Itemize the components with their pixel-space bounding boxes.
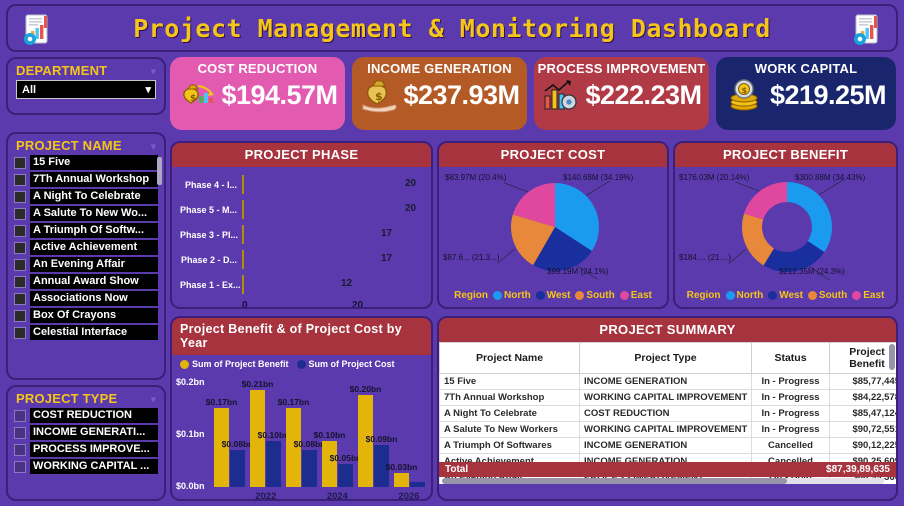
table-row[interactable]: 15 FiveINCOME GENERATIONIn - Progress$85… xyxy=(440,374,897,390)
slicer-item-project-type[interactable]: COST REDUCTION xyxy=(14,408,158,423)
bar-track: 17 xyxy=(242,226,423,243)
slicer-item-label: A Salute To New Wo... xyxy=(30,206,158,221)
donut-label-north: $300.88M (34.43%) xyxy=(795,173,865,182)
legend-benefit-cost: Sum of Project Benefit Sum of Project Co… xyxy=(172,355,431,369)
slicer-title-project-name: PROJECT NAME xyxy=(8,134,164,155)
checkbox-icon[interactable] xyxy=(14,191,26,203)
cell-status: In - Progress xyxy=(752,374,830,390)
bar-value-label: $0.05bn xyxy=(330,453,362,463)
dashboard-page: Project Management & Monitoring Dashboar… xyxy=(0,0,904,506)
cell-project-benefit: $85,77,445 xyxy=(830,374,897,390)
cell-status: In - Progress xyxy=(752,406,830,422)
kpi-card-income-generation[interactable]: INCOME GENERATION $ $237.93M xyxy=(352,57,527,130)
bar-cost[interactable]: $0.10bn xyxy=(266,441,281,487)
y-tick-0: $0.0bn xyxy=(176,481,205,491)
cell-status: Cancelled xyxy=(752,438,830,454)
table-vertical-scrollbar[interactable] xyxy=(889,344,895,370)
project-phase-bars: Phase 4 - I...20Phase 5 - M...20Phase 3 … xyxy=(172,167,431,295)
bar-value-label: $0.17bn xyxy=(206,397,238,407)
chart-title-project-benefit: PROJECT BENEFIT xyxy=(675,143,896,167)
checkbox-icon[interactable] xyxy=(14,310,26,322)
cell-project-name: 15 Five xyxy=(440,374,580,390)
x-tick-1: 20 xyxy=(352,300,363,309)
table-row[interactable]: A Salute To New WorkersWORKING CAPITAL I… xyxy=(440,422,897,438)
bar-value-label: $0.21bn xyxy=(242,379,274,389)
money-bag-declining-chart-icon: $ xyxy=(177,77,217,113)
table-total-row: Total $87,39,89,635 xyxy=(439,462,896,477)
chart-project-cost: PROJECT COST $140.68M (34.19%) $99.19M (… xyxy=(437,141,669,309)
checkbox-icon[interactable] xyxy=(14,276,26,288)
svg-text:$: $ xyxy=(375,90,383,103)
legend-label: North xyxy=(504,290,531,301)
slicer-item-project-name[interactable]: An Evening Affair xyxy=(14,257,158,272)
legend-item-east[interactable]: East xyxy=(620,290,652,301)
bar-value-label: $0.08bn xyxy=(294,439,326,449)
table-row[interactable]: A Night To CelebrateCOST REDUCTIONIn - P… xyxy=(440,406,897,422)
bar-value-label: 20 xyxy=(405,178,416,189)
legend-project-cost: RegionNorthWestSouthEast xyxy=(439,289,667,301)
kpi-card-work-capital[interactable]: WORK CAPITAL $ $219.25M xyxy=(716,57,896,130)
slicer-item-project-name[interactable]: 15 Five xyxy=(14,155,158,170)
cell-project-benefit: $85,47,124 xyxy=(830,406,897,422)
cell-project-benefit: $90,72,551 xyxy=(830,422,897,438)
kpi-label: COST REDUCTION xyxy=(198,61,318,76)
legend-label: North xyxy=(737,290,764,301)
bar-category-label: Phase 1 - Ex... xyxy=(180,280,242,290)
project-name-scrollbar[interactable] xyxy=(157,157,162,185)
x-tick: 2022 xyxy=(250,491,282,502)
table-horizontal-scrollbar[interactable] xyxy=(442,478,884,484)
chart-title-benefit-cost-by-year: Project Benefit & of Project Cost by Yea… xyxy=(172,318,431,355)
checkbox-icon[interactable] xyxy=(14,259,26,271)
bar-category-label: Phase 4 - I... xyxy=(180,180,242,190)
cell-project-name: A Salute To New Workers xyxy=(440,422,580,438)
bar-cost[interactable]: $0.08bn xyxy=(230,450,245,487)
leader-line xyxy=(729,250,746,264)
slicer-item-label: WORKING CAPITAL ... xyxy=(30,459,158,474)
kpi-value: $194.57M xyxy=(221,80,337,111)
cell-project-name: A Triumph Of Softwares xyxy=(440,438,580,454)
bar-fill[interactable] xyxy=(242,200,244,219)
checkbox-icon[interactable] xyxy=(14,293,26,305)
column-header-status[interactable]: Status xyxy=(752,343,830,374)
bar-value-label: $0.03bn xyxy=(386,462,418,472)
slicer-item-label: A Night To Celebrate xyxy=(30,189,158,204)
x-tick: 2026 xyxy=(393,491,425,502)
bar-fill[interactable] xyxy=(242,275,244,294)
slice-north[interactable] xyxy=(787,182,832,252)
bar-value-label: $0.09bn xyxy=(366,434,398,444)
y-tick-1: $0.1bn xyxy=(176,429,205,439)
legend-label: East xyxy=(631,290,652,301)
slicer-item-label: An Evening Affair xyxy=(30,257,158,272)
cell-project-type: WORKING CAPITAL IMPROVEMENT xyxy=(580,422,752,438)
bar-fill[interactable] xyxy=(242,175,244,194)
project-name-list[interactable]: 15 Five7Th Annual WorkshopA Night To Cel… xyxy=(8,155,164,340)
slicer-item-project-name[interactable]: A Night To Celebrate xyxy=(14,189,158,204)
bar-value-label: 17 xyxy=(381,253,392,264)
slicer-item-project-name[interactable]: A Salute To New Wo... xyxy=(14,206,158,221)
slicer-project-name[interactable]: PROJECT NAME ▾ 15 Five7Th Annual Worksho… xyxy=(6,132,166,380)
bar-category-label: Phase 5 - M... xyxy=(180,205,242,215)
bar-category-label: Phase 2 - D... xyxy=(180,255,242,265)
bar-value-label: $0.20bn xyxy=(350,384,382,394)
bar-fill[interactable] xyxy=(242,250,244,269)
legend-label-benefit: Sum of Project Benefit xyxy=(192,359,289,369)
donut-label-east: $176.03M (20.14%) xyxy=(679,173,749,182)
benefit-cost-plot: $0.0bn $0.1bn $0.2bn $0.17bn$0.08bn$0.21… xyxy=(176,371,427,501)
report-chart-gear-icon xyxy=(20,13,54,47)
kpi-label: WORK CAPITAL xyxy=(755,61,858,76)
pie-label-east: $83.97M (20.4%) xyxy=(445,173,506,182)
slicer-item-project-name[interactable]: 7Th Annual Workshop xyxy=(14,172,158,187)
bar-group: $0.10bn$0.05bn xyxy=(322,375,353,487)
bar-track: 12 xyxy=(242,276,423,293)
chevron-down-icon[interactable]: ▾ xyxy=(150,65,156,78)
bar-cost[interactable]: $0.08bn xyxy=(302,450,317,487)
project-phase-x-axis: 0 20 xyxy=(172,299,431,309)
column-header-project-type[interactable]: Project Type xyxy=(580,343,752,374)
slicer-project-type[interactable]: PROJECT TYPE ▾ COST REDUCTIONINCOME GENE… xyxy=(6,385,166,501)
chart-title-project-phase: PROJECT PHASE xyxy=(172,143,431,167)
x-tick: 2024 xyxy=(321,491,353,502)
slicer-item-label: 15 Five xyxy=(30,155,158,170)
cell-project-name: 7Th Annual Workshop xyxy=(440,390,580,406)
kpi-label: PROCESS IMPROVEMENT xyxy=(538,61,706,76)
checkbox-icon[interactable] xyxy=(14,410,26,422)
table-project-summary: PROJECT SUMMARY Project Name Project Typ… xyxy=(437,316,898,501)
bar-fill[interactable] xyxy=(242,225,244,244)
chevron-down-icon[interactable]: ▾ xyxy=(150,140,156,153)
kpi-value: $219.25M xyxy=(770,80,886,111)
benefit-cost-x-axis: 202220242026 xyxy=(214,489,425,501)
page-title: Project Management & Monitoring Dashboar… xyxy=(133,14,771,43)
bar-row[interactable]: Phase 1 - Ex...12 xyxy=(180,274,423,295)
legend-title: Region xyxy=(687,290,721,301)
bar-benefit[interactable]: $0.10bn xyxy=(322,441,337,487)
leader-line xyxy=(587,181,610,196)
bar-track: 20 xyxy=(242,201,423,218)
bar-value-label: $0.10bn xyxy=(258,430,290,440)
slicer-item-label: A Triumph Of Softw... xyxy=(30,223,158,238)
x-tick-0: 0 xyxy=(242,300,248,309)
slicer-item-project-type[interactable]: PROCESS IMPROVE... xyxy=(14,442,158,457)
slicer-item-label: Box Of Crayons xyxy=(30,308,158,323)
bar-group: $0.03bn xyxy=(394,375,425,487)
table-row[interactable]: A Triumph Of SoftwaresINCOME GENERATIONC… xyxy=(440,438,897,454)
slicer-item-label: Celestial Interface xyxy=(30,325,158,340)
slicer-item-project-type[interactable]: INCOME GENERATI... xyxy=(14,425,158,440)
chart-benefit-cost-by-year: Project Benefit & of Project Cost by Yea… xyxy=(170,316,433,501)
bar-value-label: $0.08bn xyxy=(222,439,254,449)
coin-stack-gear-icon: $ xyxy=(726,77,766,113)
kpi-card-cost-reduction[interactable]: COST REDUCTION $ $194.57M xyxy=(170,57,345,130)
chart-project-phase: PROJECT PHASE Phase 4 - I...20Phase 5 - … xyxy=(170,141,433,309)
slicer-department[interactable]: DEPARTMENT ▾ All ▾ xyxy=(6,57,166,115)
slicer-title-project-type: PROJECT TYPE xyxy=(8,387,164,408)
leader-line xyxy=(504,183,527,192)
chevron-down-icon[interactable]: ▾ xyxy=(150,393,156,406)
cell-project-benefit: $90,12,225 xyxy=(830,438,897,454)
legend-item-cost: Sum of Project Cost xyxy=(297,359,395,369)
checkbox-icon[interactable] xyxy=(14,157,26,169)
svg-text:$: $ xyxy=(190,94,196,104)
bar-track: 17 xyxy=(242,251,423,268)
cell-project-type: WORKING CAPITAL IMPROVEMENT xyxy=(580,390,752,406)
project-benefit-plot: $300.88M (34.43%) $212.35M (24.3%) $184.… xyxy=(675,167,896,289)
legend-item-south[interactable]: South xyxy=(575,290,614,301)
legend-label: West xyxy=(779,290,803,301)
slicer-item-project-name[interactable]: A Triumph Of Softw... xyxy=(14,223,158,238)
chart-title-project-cost: PROJECT COST xyxy=(439,143,667,167)
slicer-item-project-name[interactable]: Annual Award Show xyxy=(14,274,158,289)
project-cost-plot: $140.68M (34.19%) $99.19M (24.1%) $87.6.… xyxy=(439,167,667,289)
cell-status: In - Progress xyxy=(752,422,830,438)
legend-item-south[interactable]: South xyxy=(808,290,847,301)
checkbox-icon[interactable] xyxy=(14,174,26,186)
legend-label-cost: Sum of Project Cost xyxy=(309,359,395,369)
column-header-project-benefit[interactable]: Project Benefit xyxy=(830,343,897,374)
legend-item-north[interactable]: North xyxy=(493,290,531,301)
legend-label: South xyxy=(586,290,614,301)
table-header-row: Project Name Project Type Status Project… xyxy=(440,343,897,374)
pie-label-south: $87.6... (21.3...) xyxy=(443,253,499,262)
legend-title: Region xyxy=(454,290,488,301)
total-value: $87,39,89,635 xyxy=(826,464,890,475)
kpi-value: $237.93M xyxy=(403,80,519,111)
slicer-item-project-name[interactable]: Celestial Interface xyxy=(14,325,158,340)
kpi-value: $222.23M xyxy=(585,80,701,111)
cell-project-type: COST REDUCTION xyxy=(580,406,752,422)
slicer-item-label: Active Achievement xyxy=(30,240,158,255)
checkbox-icon[interactable] xyxy=(14,208,26,220)
slicer-item-label: Annual Award Show xyxy=(30,274,158,289)
bar-group: $0.21bn$0.10bn xyxy=(250,375,281,487)
department-selected-value: All xyxy=(22,84,36,96)
checkbox-icon[interactable] xyxy=(14,242,26,254)
legend-item-north[interactable]: North xyxy=(726,290,764,301)
bar-group: $0.17bn$0.08bn xyxy=(214,375,245,487)
table-row[interactable]: 7Th Annual WorkshopWORKING CAPITAL IMPRO… xyxy=(440,390,897,406)
bar-row[interactable]: Phase 2 - D...17 xyxy=(180,249,423,270)
checkbox-icon[interactable] xyxy=(14,327,26,339)
slicer-item-label: COST REDUCTION xyxy=(30,408,158,423)
slicer-item-label: INCOME GENERATI... xyxy=(30,425,158,440)
checkbox-icon[interactable] xyxy=(14,461,26,473)
bar-chart-gear-icon xyxy=(541,77,581,113)
slicer-item-project-name[interactable]: Active Achievement xyxy=(14,240,158,255)
table-title-project-summary: PROJECT SUMMARY xyxy=(439,318,896,342)
kpi-label: INCOME GENERATION xyxy=(367,61,512,76)
legend-project-benefit: RegionNorthWestSouthEast xyxy=(675,289,896,301)
total-label: Total xyxy=(445,464,468,475)
legend-item-east[interactable]: East xyxy=(852,290,884,301)
kpi-card-process-improvement[interactable]: PROCESS IMPROVEMENT $222.23M xyxy=(534,57,709,130)
legend-item-west[interactable]: West xyxy=(768,290,803,301)
chart-project-benefit: PROJECT BENEFIT $300.88M (34.43%) $212.3… xyxy=(673,141,898,309)
leader-line xyxy=(735,182,759,191)
checkbox-icon[interactable] xyxy=(14,444,26,456)
leader-line xyxy=(498,249,515,263)
bar-row[interactable]: Phase 5 - M...20 xyxy=(180,199,423,220)
cell-status: In - Progress xyxy=(752,390,830,406)
pie-label-north: $140.68M (34.19%) xyxy=(563,173,633,182)
legend-item-benefit: Sum of Project Benefit xyxy=(180,359,289,369)
cell-project-benefit: $84,22,578 xyxy=(830,390,897,406)
bar-row[interactable]: Phase 4 - I...20 xyxy=(180,174,423,195)
report-chart-gear-icon xyxy=(850,13,884,47)
slicer-title-department: DEPARTMENT xyxy=(8,59,164,80)
bar-group: $0.17bn$0.08bn xyxy=(286,375,317,487)
cell-project-type: INCOME GENERATION xyxy=(580,438,752,454)
svg-text:$: $ xyxy=(741,86,747,95)
cell-project-name: A Night To Celebrate xyxy=(440,406,580,422)
y-tick-2: $0.2bn xyxy=(176,377,205,387)
bar-category-label: Phase 3 - Pl... xyxy=(180,230,242,240)
legend-item-west[interactable]: West xyxy=(536,290,571,301)
bar-row[interactable]: Phase 3 - Pl...17 xyxy=(180,224,423,245)
department-dropdown[interactable]: All ▾ xyxy=(16,80,156,99)
benefit-cost-bars: $0.17bn$0.08bn$0.21bn$0.10bn$0.17bn$0.08… xyxy=(214,375,425,487)
bar-value-label: 17 xyxy=(381,228,392,239)
bar-value-label: $0.10bn xyxy=(314,430,346,440)
column-header-project-name[interactable]: Project Name xyxy=(440,343,580,374)
pie-label-west: $99.19M (24.1%) xyxy=(547,267,608,276)
project-type-list[interactable]: COST REDUCTIONINCOME GENERATI...PROCESS … xyxy=(8,408,164,474)
donut-label-west: $212.35M (24.3%) xyxy=(779,267,845,276)
slicer-item-project-name[interactable]: Associations Now xyxy=(14,291,158,306)
bar-value-label: 20 xyxy=(405,203,416,214)
donut-label-south: $184.... (21....) xyxy=(679,253,731,262)
cell-project-type: INCOME GENERATION xyxy=(580,374,752,390)
bar-track: 20 xyxy=(242,176,423,193)
slicer-item-label: 7Th Annual Workshop xyxy=(30,172,158,187)
slicer-item-label: PROCESS IMPROVE... xyxy=(30,442,158,457)
legend-label: East xyxy=(863,290,884,301)
chevron-down-icon[interactable]: ▾ xyxy=(145,83,151,96)
bar-cost[interactable] xyxy=(410,482,425,487)
legend-label: South xyxy=(819,290,847,301)
bar-value-label: $0.17bn xyxy=(278,397,310,407)
checkbox-icon[interactable] xyxy=(14,225,26,237)
bar-group: $0.20bn$0.09bn xyxy=(358,375,389,487)
bar-benefit[interactable]: $0.03bn xyxy=(394,473,409,487)
dashboard-title-bar: Project Management & Monitoring Dashboar… xyxy=(6,4,898,52)
legend-label: West xyxy=(547,290,571,301)
bar-cost[interactable]: $0.05bn xyxy=(338,464,353,487)
checkbox-icon[interactable] xyxy=(14,427,26,439)
slicer-item-label: Associations Now xyxy=(30,291,158,306)
bar-value-label: 12 xyxy=(341,278,352,289)
money-bag-in-hand-icon: $ xyxy=(359,77,399,113)
project-summary-scroll-area[interactable]: Project Name Project Type Status Project… xyxy=(439,342,896,484)
slicer-item-project-type[interactable]: WORKING CAPITAL ... xyxy=(14,459,158,474)
slicer-item-project-name[interactable]: Box Of Crayons xyxy=(14,308,158,323)
